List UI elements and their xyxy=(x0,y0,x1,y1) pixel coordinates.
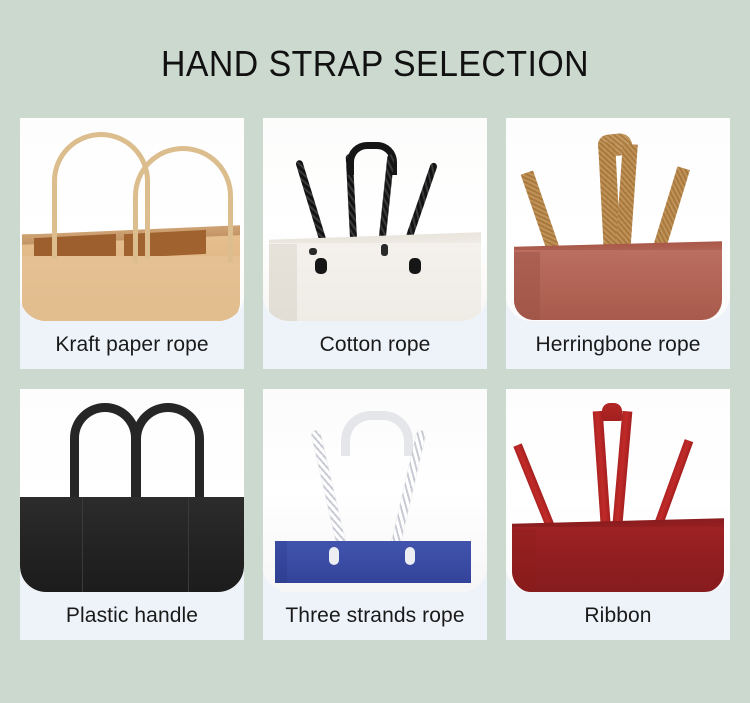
ribbon-bag-side-panel xyxy=(512,529,536,592)
three-strands-rope-arc xyxy=(341,411,413,456)
kraft-bag-front-panel xyxy=(22,256,240,321)
strap-photo-ribbon xyxy=(506,389,730,592)
strap-photo-three-strands-rope xyxy=(263,389,487,592)
strap-option-kraft-paper-rope[interactable]: Kraft paper rope xyxy=(20,118,244,369)
strap-option-ribbon[interactable]: Ribbon xyxy=(506,389,730,640)
three-strands-bag-side-panel xyxy=(275,541,287,583)
strap-label-ribbon: Ribbon xyxy=(506,592,730,640)
ribbon-bag-illustration xyxy=(506,389,730,592)
plastic-handle-bag-illustration xyxy=(20,389,244,592)
strap-label-kraft-paper-rope: Kraft paper rope xyxy=(20,321,244,369)
cotton-bag-illustration xyxy=(263,118,487,321)
strap-selection-page: HAND STRAP SELECTION Kraft paper rope xyxy=(0,0,750,703)
strap-label-plastic-handle: Plastic handle xyxy=(20,592,244,640)
ribbon-strap-fold xyxy=(602,403,622,421)
three-strands-rope-tip-left xyxy=(329,547,339,565)
ribbon-bag-body xyxy=(512,527,724,592)
three-strands-rope-tip-right xyxy=(405,547,415,565)
cotton-rope-eyelet-right xyxy=(381,244,388,256)
strap-option-three-strands-rope[interactable]: Three strands rope xyxy=(263,389,487,640)
three-strands-bag-illustration xyxy=(263,389,487,592)
plastic-handle-bag-seam-left xyxy=(82,497,83,592)
cotton-rope-knot-left xyxy=(315,258,327,274)
kraft-handle-right xyxy=(133,146,233,263)
strap-label-three-strands-rope: Three strands rope xyxy=(263,592,487,640)
cotton-rope-eyelet-left xyxy=(309,248,317,255)
strap-option-cotton-rope[interactable]: Cotton rope xyxy=(263,118,487,369)
strap-label-herringbone-rope: Herringbone rope xyxy=(506,321,730,369)
strap-option-plastic-handle[interactable]: Plastic handle xyxy=(20,389,244,640)
kraft-bag-illustration xyxy=(20,118,244,321)
strap-photo-plastic-handle xyxy=(20,389,244,592)
herringbone-bag-illustration xyxy=(506,118,730,321)
page-title: HAND STRAP SELECTION xyxy=(23,44,728,84)
plastic-handle-bag-body xyxy=(20,497,244,592)
herringbone-bag-side-panel xyxy=(514,252,540,320)
strap-photo-herringbone-rope xyxy=(506,118,730,321)
strap-label-cotton-rope: Cotton rope xyxy=(263,321,487,369)
cotton-bag-side-panel xyxy=(269,244,297,321)
herringbone-bag-body xyxy=(514,250,722,320)
strap-photo-cotton-rope xyxy=(263,118,487,321)
strap-option-herringbone-rope[interactable]: Herringbone rope xyxy=(506,118,730,369)
plastic-handle-bag-seam-right xyxy=(188,497,189,592)
cotton-rope-knot-right xyxy=(409,258,421,274)
three-strands-bag-body xyxy=(275,541,471,583)
cotton-bag-body xyxy=(269,243,481,321)
strap-options-grid: Kraft paper rope xyxy=(20,118,730,640)
strap-photo-kraft-paper-rope xyxy=(20,118,244,321)
